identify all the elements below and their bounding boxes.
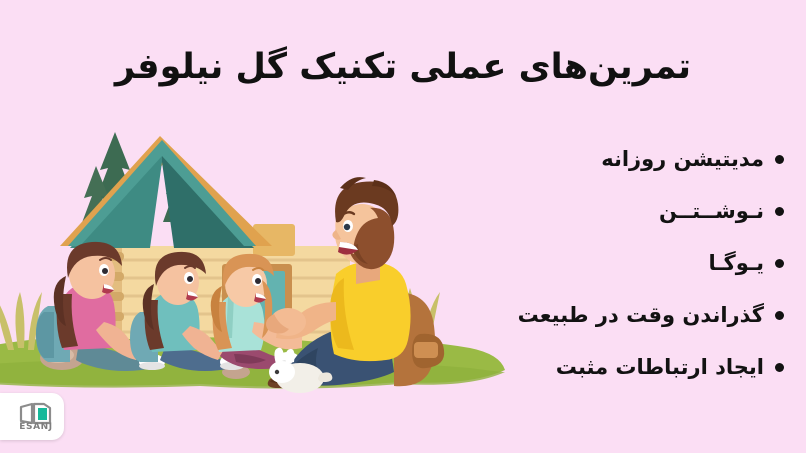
page-title: تمرین‌های عملی تکنیک گل نیلوفر bbox=[0, 45, 806, 91]
bullet-label: نـوشــتــن bbox=[659, 199, 764, 223]
bullet-label: ایجاد ارتباطات مثبت bbox=[556, 355, 764, 379]
bullet-dot-icon bbox=[775, 259, 784, 268]
slide-canvas: تمرین‌های عملی تکنیک گل نیلوفر bbox=[0, 0, 806, 453]
bullet-dot-icon bbox=[775, 363, 784, 372]
bullet-dot-icon bbox=[775, 207, 784, 216]
list-item: گذراندن وقت در طبیعت bbox=[464, 289, 784, 341]
list-item: یـوگـا bbox=[464, 237, 784, 289]
bullet-dot-icon bbox=[775, 155, 784, 164]
bullet-list: مدیتیشن روزانه نـوشــتــن یـوگـا گذراندن… bbox=[464, 133, 784, 393]
list-item: ایجاد ارتباطات مثبت bbox=[464, 341, 784, 393]
esanj-logo-badge[interactable]: ESANJ bbox=[0, 393, 64, 440]
list-item: نـوشــتــن bbox=[464, 185, 784, 237]
esanj-logo-text: ESANJ bbox=[19, 422, 52, 432]
bullet-label: مدیتیشن روزانه bbox=[601, 147, 764, 171]
bullet-label: یـوگـا bbox=[708, 251, 764, 275]
bullet-label: گذراندن وقت در طبیعت bbox=[518, 303, 764, 327]
illustration-family-camping bbox=[0, 96, 520, 396]
list-item: مدیتیشن روزانه bbox=[464, 133, 784, 185]
bullet-dot-icon bbox=[775, 311, 784, 320]
